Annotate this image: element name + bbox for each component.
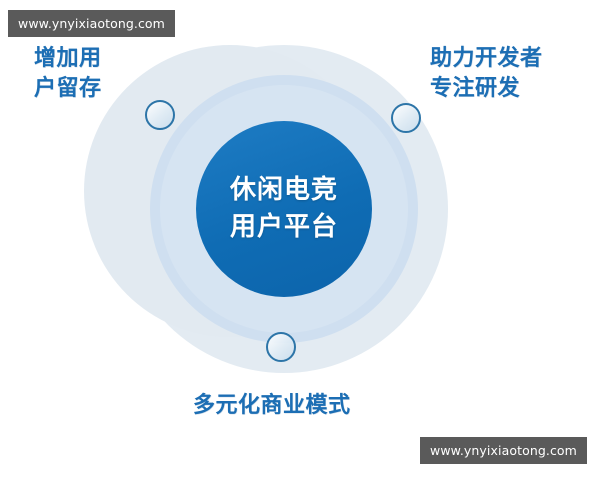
core-circle: 休闲电竞 用户平台 — [196, 121, 372, 297]
node-circle-left-icon — [145, 100, 175, 130]
callout-label-right-line-1: 助力开发者 — [430, 44, 543, 74]
node-circle-bottom-icon — [266, 332, 296, 362]
infographic-canvas: 休闲电竞 用户平台 增加用 户留存 助力开发者 专注研发 多元化商业模式 www… — [0, 0, 600, 480]
node-circle-right-icon — [391, 103, 421, 133]
callout-label-right: 助力开发者 专注研发 — [430, 44, 543, 105]
watermark-bottom: www.ynyixiaotong.com — [420, 437, 587, 464]
watermark-top: www.ynyixiaotong.com — [8, 10, 175, 37]
callout-label-right-line-2: 专注研发 — [430, 74, 543, 104]
core-title-line-1: 休闲电竞 — [230, 172, 338, 209]
callout-label-left-line-1: 增加用 — [34, 44, 102, 74]
callout-label-left: 增加用 户留存 — [34, 44, 102, 105]
callout-label-bottom: 多元化商业模式 — [193, 391, 351, 421]
callout-label-left-line-2: 户留存 — [34, 74, 102, 104]
core-title-line-2: 用户平台 — [230, 209, 338, 246]
